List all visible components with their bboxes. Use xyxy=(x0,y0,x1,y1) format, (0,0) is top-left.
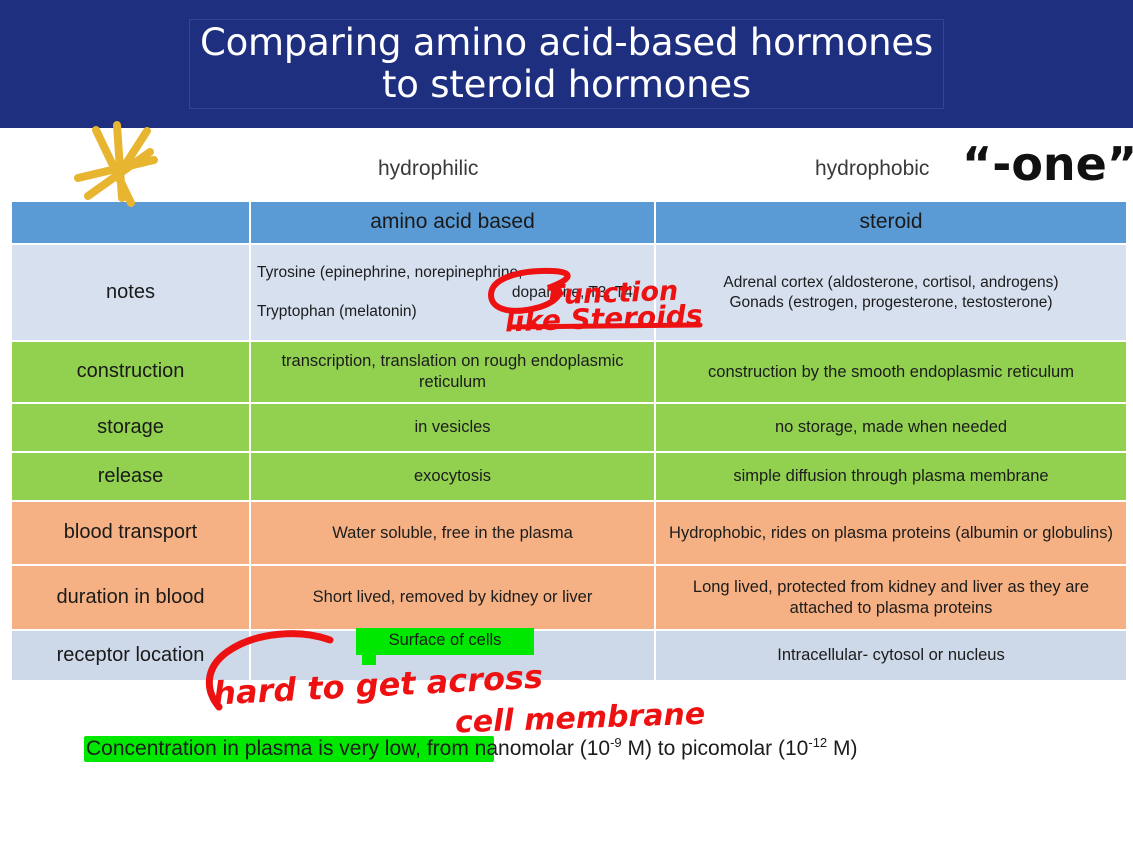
cell-receptor-amino-text: Surface of cells xyxy=(356,631,534,650)
cell-construction-amino: transcription, translation on rough endo… xyxy=(251,342,654,402)
notes-steroid-line2: Gonads (estrogen, progesterone, testoste… xyxy=(664,293,1118,313)
table-row-release: release exocytosis simple diffusion thro… xyxy=(12,453,1126,500)
row-label-receptor-location: receptor location xyxy=(12,631,249,680)
footnote-exponent-nanomolar: -9 xyxy=(610,735,622,750)
footnote-concentration: Concentration in plasma is very low, fro… xyxy=(86,735,858,761)
footnote-highlighted-part: Concentration in plasma is very low xyxy=(86,737,415,760)
cell-duration-amino: Short lived, removed by kidney or liver xyxy=(251,566,654,629)
footnote-exponent-picomolar: -12 xyxy=(808,735,827,750)
header-cell-amino-acid-based: amino acid based xyxy=(251,202,654,243)
cell-release-amino: exocytosis xyxy=(251,453,654,500)
notes-amino-line1: Tyrosine (epinephrine, norepinephrine, xyxy=(257,264,522,281)
table-row-duration-in-blood: duration in blood Short lived, removed b… xyxy=(12,566,1126,629)
title-inner-frame: Comparing amino acid-based hormones to s… xyxy=(189,19,944,109)
cell-blood-transport-amino: Water soluble, free in the plasma xyxy=(251,502,654,564)
cell-release-steroid: simple diffusion through plasma membrane xyxy=(656,453,1126,500)
ink-note-like-steroids: like Steroids xyxy=(504,299,702,339)
row-label-storage: storage xyxy=(12,404,249,451)
table-header-row: amino acid based steroid xyxy=(12,202,1126,243)
cell-receptor-steroid: Intracellular- cytosol or nucleus xyxy=(656,631,1126,680)
subheader-hydrophilic-label: hydrophilic xyxy=(378,157,478,181)
row-label-release: release xyxy=(12,453,249,500)
table-row-storage: storage in vesicles no storage, made whe… xyxy=(12,404,1126,451)
footnote-rest-b: M) to picomolar (10 xyxy=(622,737,809,760)
table-row-construction: construction transcription, translation … xyxy=(12,342,1126,402)
subheader-row: hydrophilic hydrophobic xyxy=(10,131,1120,200)
cell-construction-steroid: construction by the smooth endoplasmic r… xyxy=(656,342,1126,402)
notes-steroid-line1: Adrenal cortex (aldosterone, cortisol, a… xyxy=(664,273,1118,293)
row-label-blood-transport: blood transport xyxy=(12,502,249,564)
subheader-hydrophobic-label: hydrophobic xyxy=(815,157,929,181)
page-title: Comparing amino acid-based hormones to s… xyxy=(200,22,933,106)
table-row-blood-transport: blood transport Water soluble, free in t… xyxy=(12,502,1126,564)
table-row-receptor-location: receptor location Intracellular- cytosol… xyxy=(12,631,1126,680)
comparison-table: amino acid based steroid notes Tyrosine … xyxy=(10,200,1128,682)
notes-amino-line3: Tryptophan (melatonin) xyxy=(257,303,417,320)
slide-title-banner: Comparing amino acid-based hormones to s… xyxy=(0,0,1133,131)
row-label-notes: notes xyxy=(12,245,249,340)
cell-storage-amino: in vesicles xyxy=(251,404,654,451)
cell-duration-steroid: Long lived, protected from kidney and li… xyxy=(656,566,1126,629)
footnote-rest-a: , from nanomolar (10 xyxy=(415,737,610,760)
row-label-duration-in-blood: duration in blood xyxy=(12,566,249,629)
ink-note-cell-membrane: cell membrane xyxy=(454,697,705,741)
ink-note-one-suffix: “-one” xyxy=(962,137,1133,191)
header-cell-steroid: steroid xyxy=(656,202,1126,243)
cell-notes-steroid: Adrenal cortex (aldosterone, cortisol, a… xyxy=(656,245,1126,340)
row-label-construction: construction xyxy=(12,342,249,402)
cell-storage-steroid: no storage, made when needed xyxy=(656,404,1126,451)
cell-blood-transport-steroid: Hydrophobic, rides on plasma proteins (a… xyxy=(656,502,1126,564)
footnote-rest-c: M) xyxy=(827,737,857,760)
header-cell-blank xyxy=(12,202,249,243)
